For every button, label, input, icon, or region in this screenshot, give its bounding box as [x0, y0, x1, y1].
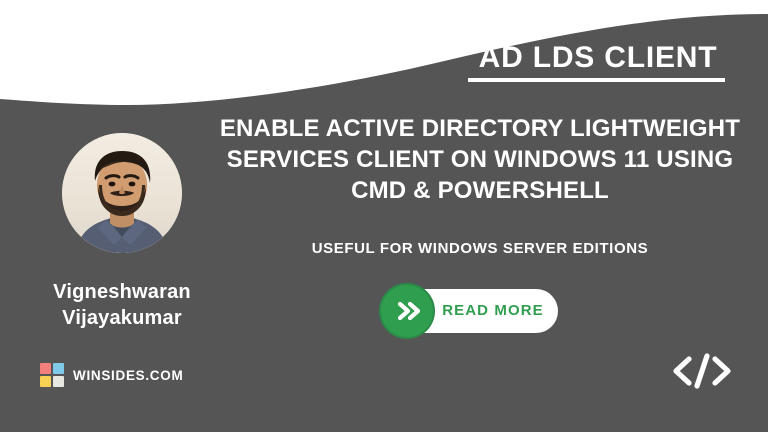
author-name-line-2: Vijayakumar	[6, 305, 238, 331]
headline-line-3: CMD & POWERSHELL	[196, 175, 764, 206]
author-name: Vigneshwaran Vijayakumar	[6, 279, 238, 331]
logo-square-top-left	[40, 363, 51, 374]
page-title-underline	[468, 78, 725, 82]
avatar	[62, 133, 182, 253]
read-more-button[interactable]: READ MORE	[385, 289, 558, 333]
brand-logo: WINSIDES.COM	[40, 363, 183, 387]
page-title-text: AD LDS CLIENT	[479, 40, 718, 76]
subheadline: USEFUL FOR WINDOWS SERVER EDITIONS	[196, 240, 764, 257]
four-square-grid-logo	[40, 363, 64, 387]
author-name-line-1: Vigneshwaran	[6, 279, 238, 305]
code-brackets-icon	[671, 351, 733, 391]
headline-line-1: ENABLE ACTIVE DIRECTORY LIGHTWEIGHT	[196, 113, 764, 144]
headline: ENABLE ACTIVE DIRECTORY LIGHTWEIGHT SERV…	[196, 113, 764, 206]
logo-square-top-right	[53, 363, 64, 374]
page-title: AD LDS CLIENT	[464, 40, 732, 76]
logo-square-bottom-left	[40, 376, 51, 387]
read-more-label: READ MORE	[437, 289, 549, 333]
double-chevron-right-icon	[381, 285, 433, 337]
brand-name-text: WINSIDES.COM	[73, 368, 183, 383]
logo-square-bottom-right	[53, 376, 64, 387]
thumbnail-canvas: AD LDS CLIENT ENABLE ACTIVE DIRECTORY LI…	[0, 0, 768, 432]
headline-line-2: SERVICES CLIENT ON WINDOWS 11 USING	[196, 144, 764, 175]
